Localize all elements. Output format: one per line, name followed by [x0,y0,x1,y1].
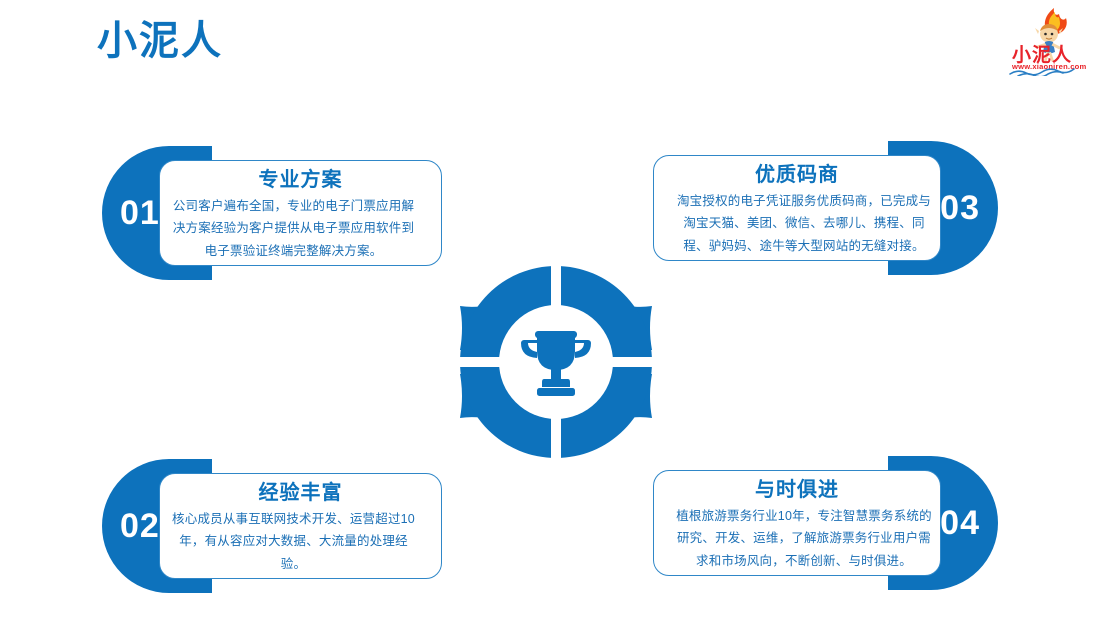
feature-card-02[interactable]: 02 经验丰富 核心成员从事互联网技术开发、运营超过10年，有从容应对大数据、大… [102,459,442,593]
card-title: 与时俱进 [654,478,940,502]
feature-card-04[interactable]: 04 与时俱进 植根旅游票务行业10年，专注智慧票务系统的研究、开发、运维，了解… [653,456,998,590]
card-panel: 专业方案 公司客户遍布全国，专业的电子门票应用解决方案经验为客户提供从电子票应用… [159,160,442,266]
card-panel: 优质码商 淘宝授权的电子凭证服务优质码商，已完成与淘宝天猫、美团、微信、去哪儿、… [653,155,941,261]
card-panel: 与时俱进 植根旅游票务行业10年，专注智慧票务系统的研究、开发、运维，了解旅游票… [653,470,941,576]
card-number: 04 [940,504,980,543]
logo-graphic: 小泥人 www.xiaoniren.com [1004,6,1104,76]
card-panel: 经验丰富 核心成员从事互联网技术开发、运营超过10年，有从容应对大数据、大流量的… [159,473,442,579]
card-title: 专业方案 [160,168,441,192]
card-body: 公司客户遍布全国，专业的电子门票应用解决方案经验为客户提供从电子票应用软件到电子… [160,195,441,262]
card-number: 03 [940,189,980,228]
xiaoniren-logo: 小泥人 www.xiaoniren.com [1004,6,1104,76]
feature-card-01[interactable]: 01 专业方案 公司客户遍布全国，专业的电子门票应用解决方案经验为客户提供从电子… [102,146,442,280]
feature-card-03[interactable]: 03 优质码商 淘宝授权的电子凭证服务优质码商，已完成与淘宝天猫、美团、微信、去… [653,141,998,275]
card-body: 淘宝授权的电子凭证服务优质码商，已完成与淘宝天猫、美团、微信、去哪儿、携程、同程… [654,190,940,257]
card-title: 优质码商 [654,163,940,187]
center-emblem [452,258,660,466]
card-body: 植根旅游票务行业10年，专注智慧票务系统的研究、开发、运维，了解旅游票务行业用户… [654,505,940,572]
page-title: 小泥人 [97,18,223,64]
card-number: 01 [120,194,160,233]
card-title: 经验丰富 [160,481,441,505]
card-body: 核心成员从事互联网技术开发、运营超过10年，有从容应对大数据、大流量的处理经验。 [160,508,441,575]
emblem-graphic [452,258,660,466]
card-number: 02 [120,507,160,546]
